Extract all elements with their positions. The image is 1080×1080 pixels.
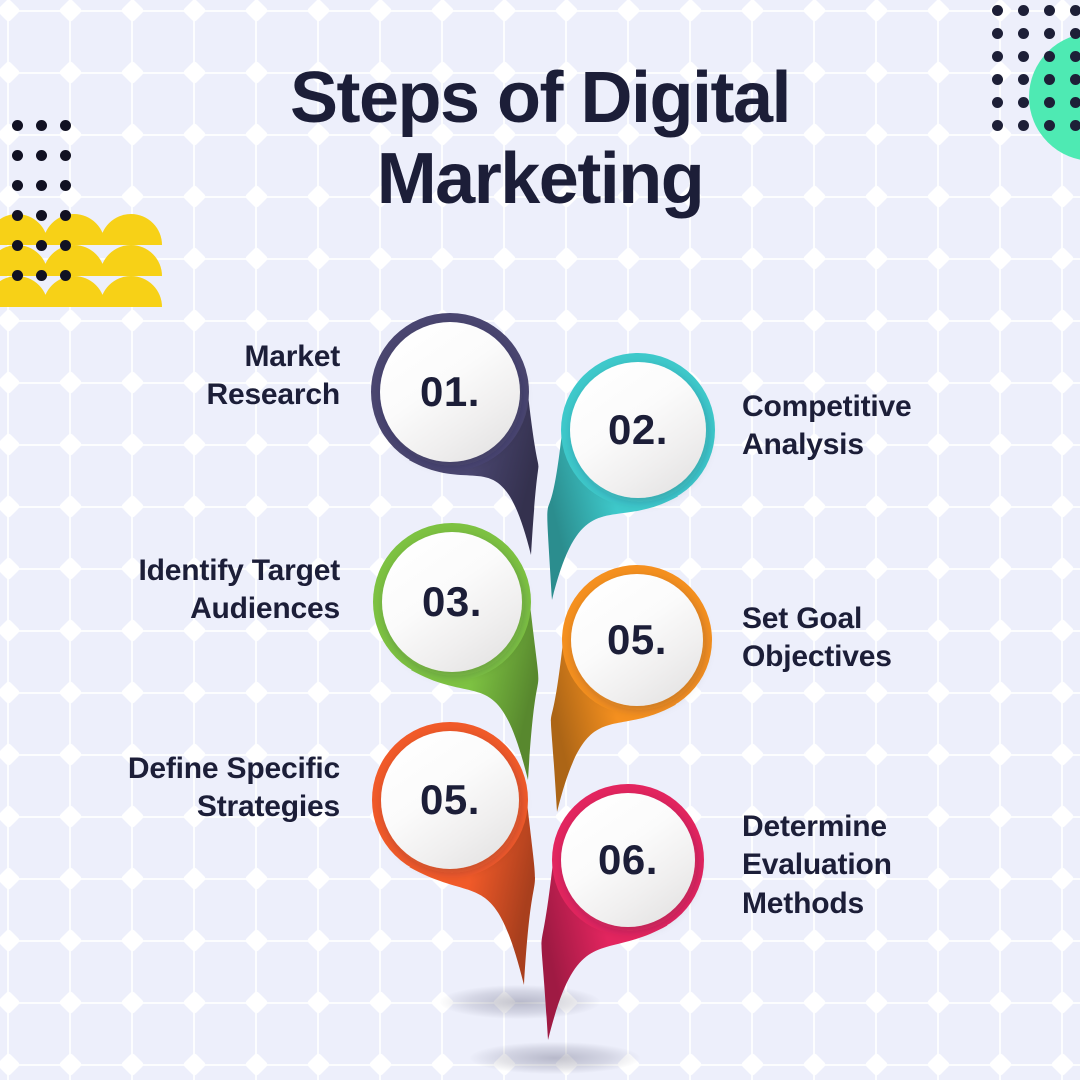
pin-shadow-center (470, 1042, 640, 1074)
pin-tail-5 (409, 808, 535, 985)
pin-shadow-left (440, 985, 600, 1019)
pin-label-5: Define SpecificStrategies (40, 750, 340, 827)
pin-tail-2 (547, 438, 678, 600)
pin-label-1: MarketResearch (40, 338, 340, 415)
pin-label-4: Set GoalObjectives (742, 600, 1042, 677)
pin-number-4: 05. (562, 565, 712, 715)
pin-disc-3 (382, 532, 522, 672)
infographic-canvas: Steps of DigitalMarketing 01.MarketResea… (0, 0, 1080, 1080)
pin-disc-5 (381, 731, 519, 869)
pin-disc-1 (380, 322, 520, 462)
pin-ring-2 (561, 353, 715, 507)
pin-number-5: 05. (372, 722, 528, 878)
pin-disc-4 (571, 574, 703, 706)
pin-tail-6 (542, 868, 668, 1040)
pin-disc-6 (561, 793, 695, 927)
pin-ring-1 (371, 313, 529, 471)
pin-number-3: 03. (373, 523, 531, 681)
pin-tail-1 (409, 400, 539, 555)
pin-ring-3 (373, 523, 531, 681)
pin-ring-4 (562, 565, 712, 715)
pin-label-6: DetermineEvaluationMethods (742, 808, 1042, 923)
pin-tail-3 (411, 610, 538, 780)
page-title: Steps of DigitalMarketing (0, 58, 1080, 221)
pin-label-3: Identify TargetAudiences (40, 552, 340, 629)
pin-number-1: 01. (371, 313, 529, 471)
half-circle-pattern-icon (0, 214, 116, 314)
pin-label-2: CompetitiveAnalysis (742, 388, 1042, 465)
pin-disc-2 (570, 362, 706, 498)
pin-ring-6 (552, 784, 704, 936)
pin-ring-5 (372, 722, 528, 878)
pin-number-2: 02. (561, 353, 715, 507)
pin-number-6: 06. (552, 784, 704, 936)
pin-tail-4 (551, 648, 676, 813)
